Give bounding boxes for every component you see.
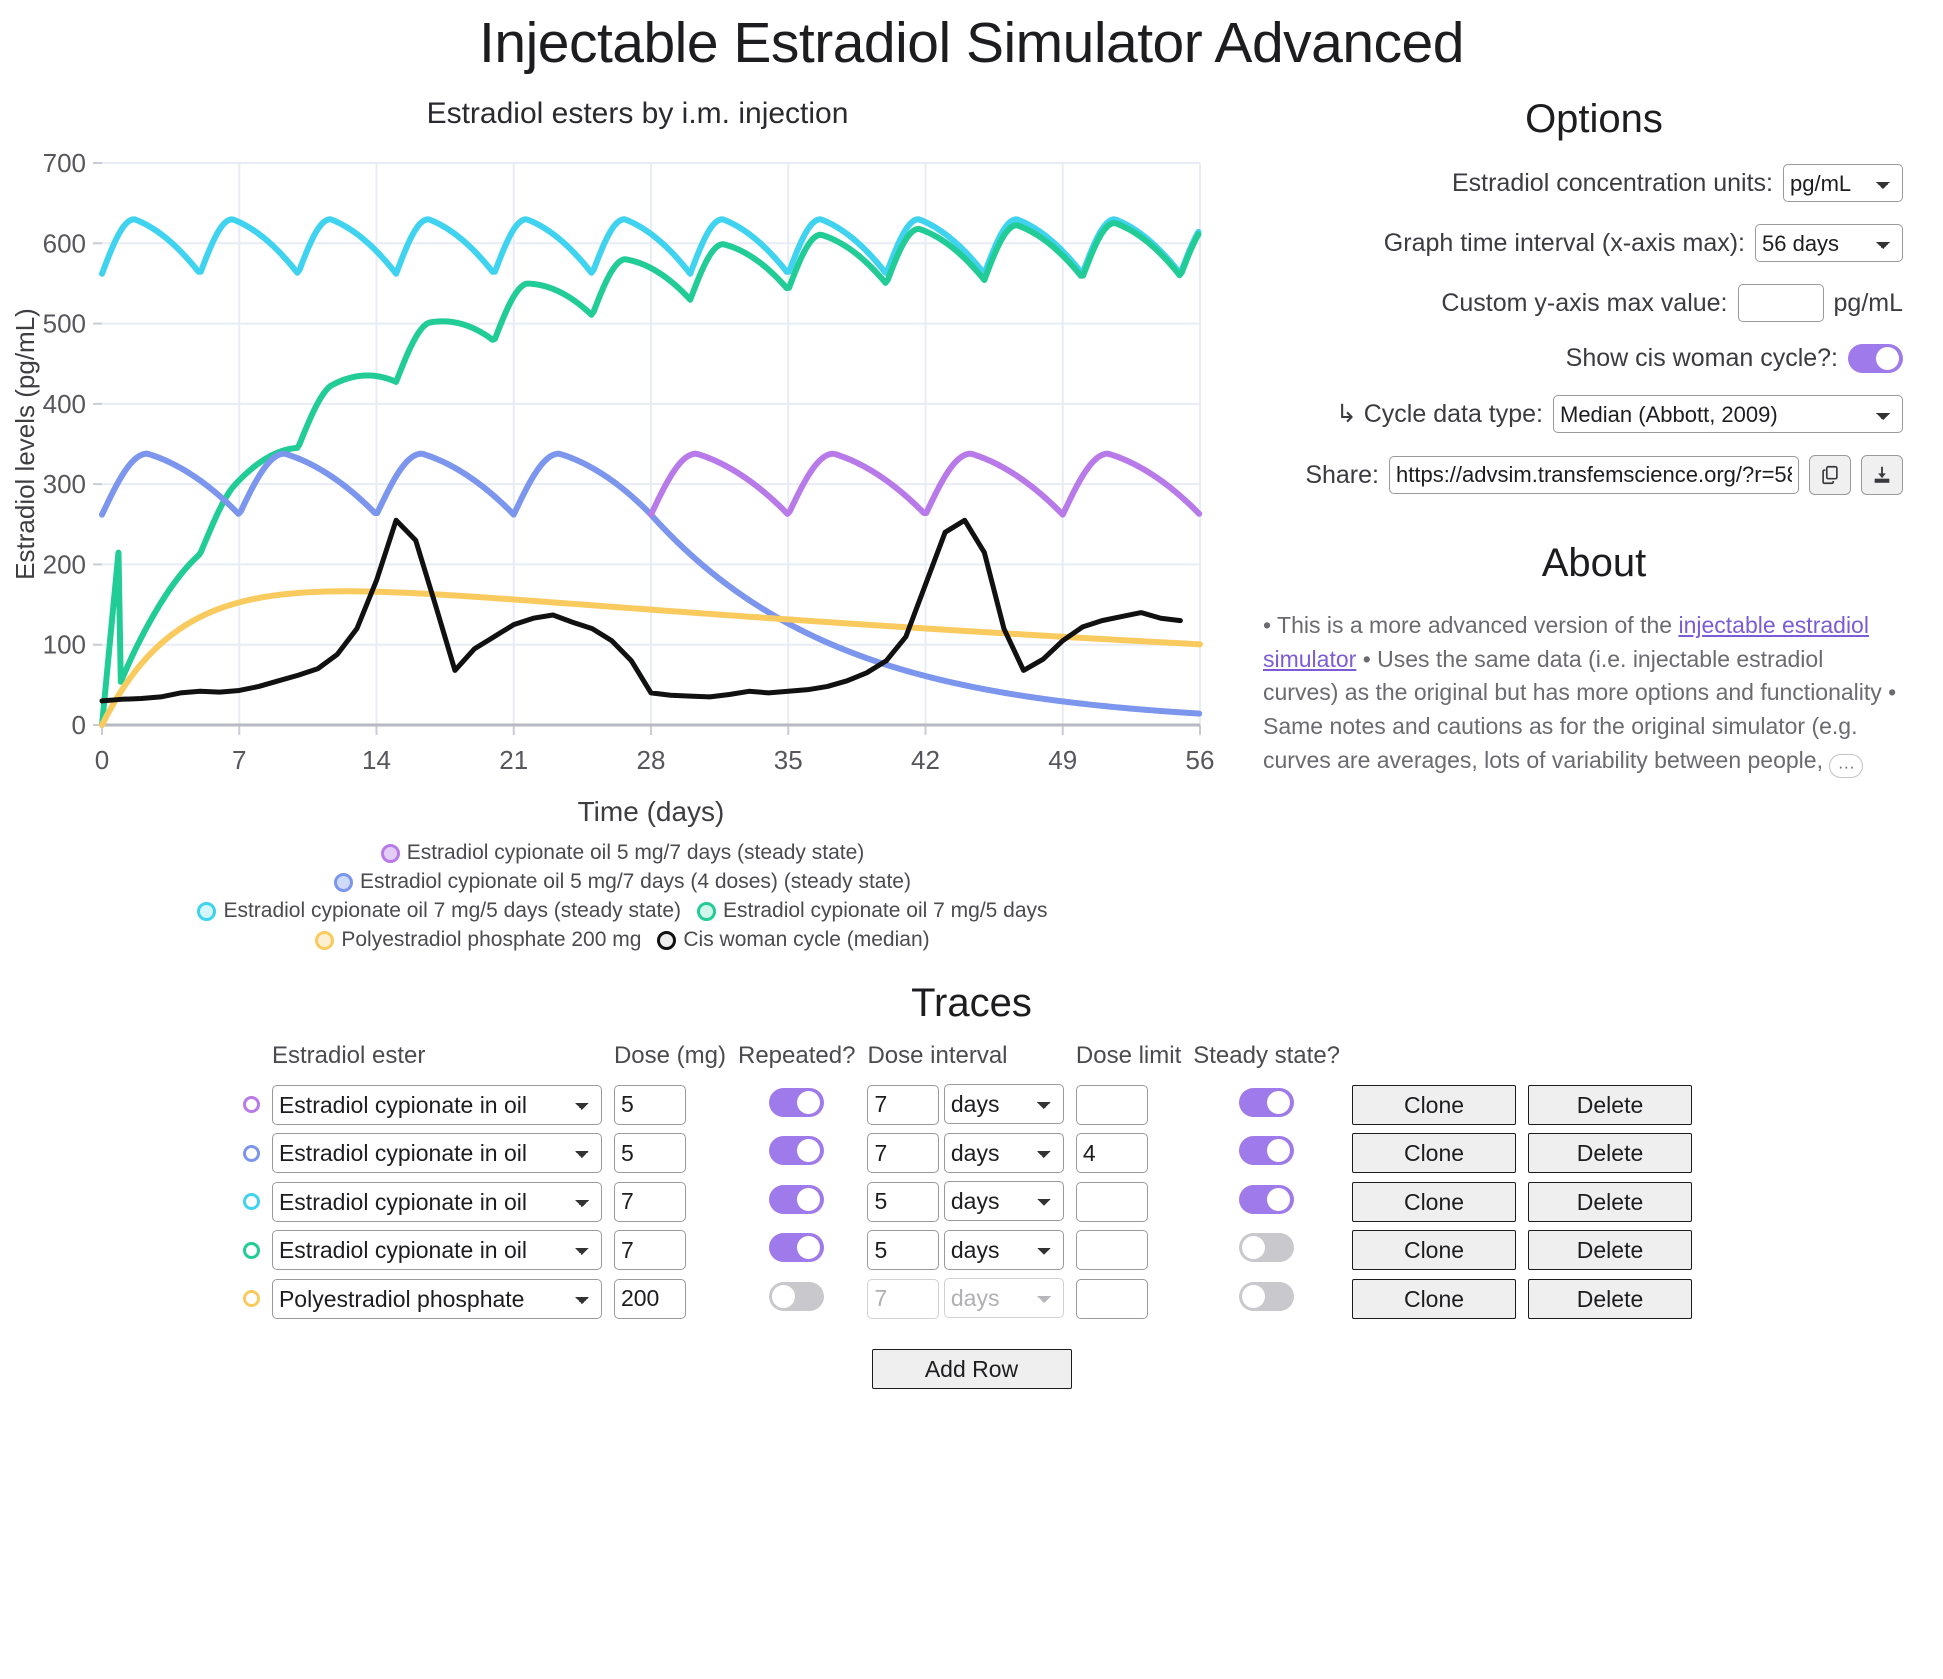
legend-item-label: Estradiol cypionate oil 5 mg/7 days (4 d… [360,870,911,894]
svg-text:300: 300 [43,469,86,499]
page-title: Injectable Estradiol Simulator Advanced [0,8,1943,79]
delete-cell: Delete [1526,1226,1702,1275]
steady-state-toggle-3[interactable] [1239,1233,1294,1262]
dose-input-1[interactable] [614,1133,686,1173]
th-actions-2 [1526,1042,1702,1080]
th-dose-limit: Dose limit [1074,1042,1191,1080]
share-url-input[interactable] [1389,456,1799,494]
download-icon[interactable] [1861,455,1903,495]
dose-limit-cell [1074,1274,1191,1323]
delete-cell: Delete [1526,1080,1702,1129]
repeated-toggle-4[interactable] [769,1282,824,1311]
chart-column: Estradiol esters by i.m. injection 01002… [0,79,1245,957]
svg-text:700: 700 [43,148,86,178]
trace-color-cell [241,1080,270,1129]
steady-state-cell [1191,1080,1350,1129]
options-column: Options Estradiol concentration units: p… [1245,79,1943,801]
svg-text:400: 400 [43,389,86,419]
legend-row: Estradiol cypionate oil 7 mg/5 days (ste… [30,899,1215,923]
legend-color-swatch [334,873,353,892]
th-repeated: Repeated? [736,1042,865,1080]
clone-cell: Clone [1350,1129,1526,1178]
repeated-toggle-1[interactable] [769,1136,824,1165]
dose-limit-input-0[interactable] [1076,1085,1148,1125]
ester-cell: Estradiol cypionate in oil [270,1226,612,1275]
share-label: Share: [1305,461,1379,490]
svg-text:42: 42 [911,745,940,775]
legend-row: Estradiol cypionate oil 5 mg/7 days (ste… [30,841,1215,865]
legend-item-label: Estradiol cypionate oil 7 mg/5 days (ste… [223,899,681,923]
expand-about-button[interactable]: ··· [1829,754,1863,778]
svg-text:35: 35 [774,745,803,775]
svg-text:Estradiol levels (pg/mL): Estradiol levels (pg/mL) [10,308,40,580]
legend-row: Polyestradiol phosphate 200 mg Cis woman… [30,928,1215,952]
legend-row: Estradiol cypionate oil 5 mg/7 days (4 d… [30,870,1215,894]
interval-cell: days [865,1177,1073,1226]
svg-text:49: 49 [1048,745,1077,775]
clone-button-1[interactable]: Clone [1352,1133,1516,1173]
trace-color-cell [241,1226,270,1275]
steady-state-cell [1191,1177,1350,1226]
legend-color-swatch [197,902,216,921]
repeated-toggle-0[interactable] [769,1088,824,1117]
legend-item-label: Polyestradiol phosphate 200 mg [341,928,641,952]
custom-ymax-row: Custom y-axis max value: pg/mL [1245,284,1943,322]
legend-item-label: Cis woman cycle (median) [683,928,929,952]
legend-item[interactable]: Polyestradiol phosphate 200 mg [315,928,641,952]
steady-state-toggle-1[interactable] [1239,1136,1294,1165]
repeated-toggle-2[interactable] [769,1185,824,1214]
clone-cell: Clone [1350,1226,1526,1275]
legend-item[interactable]: Estradiol cypionate oil 5 mg/7 days (ste… [381,841,865,865]
cycle-type-label: ↳ Cycle data type: [1336,399,1543,429]
traces-table: Estradiol ester Dose (mg) Repeated? Dose… [241,1042,1702,1323]
interval-unit-select-1[interactable]: days [944,1133,1064,1173]
dose-limit-input-3[interactable] [1076,1230,1148,1270]
trace-color-cell [241,1177,270,1226]
svg-text:56: 56 [1186,745,1215,775]
interval-input-2[interactable] [867,1182,939,1222]
table-row: Estradiol cypionate in oil daysCloneDele… [241,1080,1702,1129]
ester-cell: Estradiol cypionate in oil [270,1129,612,1178]
trace-color-swatch [243,1193,260,1210]
about-part-2: • Uses the same data (i.e. injectable es… [1263,646,1896,773]
legend-item[interactable]: Estradiol cypionate oil 5 mg/7 days (4 d… [334,870,911,894]
interval-cell: days [865,1080,1073,1129]
clone-button-2[interactable]: Clone [1352,1182,1516,1222]
table-row: Estradiol cypionate in oil daysCloneDele… [241,1226,1702,1275]
svg-text:28: 28 [637,745,666,775]
main-columns: Estradiol esters by i.m. injection 01002… [0,79,1943,957]
ester-select-4[interactable]: Polyestradiol phosphate [272,1279,602,1319]
legend-color-swatch [697,902,716,921]
add-row-button[interactable]: Add Row [872,1349,1072,1389]
ester-cell: Estradiol cypionate in oil [270,1177,612,1226]
interval-unit-select-3[interactable]: days [944,1230,1064,1270]
dose-limit-input-1[interactable] [1076,1133,1148,1173]
delete-button-1[interactable]: Delete [1528,1133,1692,1173]
dose-limit-cell [1074,1129,1191,1178]
dose-limit-cell [1074,1177,1191,1226]
about-part-1: • This is a more advanced version of the [1263,612,1678,638]
th-steady-state: Steady state? [1191,1042,1350,1080]
dose-cell [612,1129,736,1178]
dose-limit-cell [1074,1080,1191,1129]
about-heading: About [1245,541,1943,586]
svg-text:14: 14 [362,745,391,775]
repeated-cell [736,1274,865,1323]
steady-state-cell [1191,1274,1350,1323]
app-root: Injectable Estradiol Simulator Advanced … [0,8,1943,1679]
delete-button-4[interactable]: Delete [1528,1279,1692,1319]
options-heading: Options [1245,97,1943,142]
clone-cell: Clone [1350,1177,1526,1226]
traces-heading: Traces [0,981,1943,1026]
delete-button-2[interactable]: Delete [1528,1182,1692,1222]
svg-text:7: 7 [232,745,246,775]
delete-button-3[interactable]: Delete [1528,1230,1692,1270]
cycle-type-select[interactable]: Median (Abbott, 2009) [1553,395,1903,433]
steady-state-cell [1191,1129,1350,1178]
chart-svg: 01002003004005006007000714212835424956Ti… [0,135,1245,835]
ester-select-3[interactable]: Estradiol cypionate in oil [272,1230,602,1270]
clone-cell: Clone [1350,1080,1526,1129]
cycle-type-row: ↳ Cycle data type: Median (Abbott, 2009) [1245,395,1943,433]
svg-text:500: 500 [43,309,86,339]
time-interval-label: Graph time interval (x-axis max): [1384,229,1745,258]
dose-limit-cell [1074,1226,1191,1275]
dose-input-3[interactable] [614,1230,686,1270]
repeated-toggle-3[interactable] [769,1233,824,1262]
steady-state-toggle-0[interactable] [1239,1088,1294,1117]
table-row: Estradiol cypionate in oil daysCloneDele… [241,1129,1702,1178]
svg-text:21: 21 [499,745,528,775]
delete-button-0[interactable]: Delete [1528,1085,1692,1125]
svg-text:600: 600 [43,229,86,259]
show-cycle-row: Show cis woman cycle?: [1245,344,1943,373]
dose-input-2[interactable] [614,1182,686,1222]
trace-color-cell [241,1274,270,1323]
trace-color-swatch [243,1096,260,1113]
interval-unit-select-0[interactable]: days [944,1084,1064,1124]
units-select[interactable]: pg/mL [1783,164,1903,202]
clone-button-0[interactable]: Clone [1352,1085,1516,1125]
units-row: Estradiol concentration units: pg/mL [1245,164,1943,202]
svg-text:100: 100 [43,630,86,660]
repeated-cell [736,1080,865,1129]
table-row: Estradiol cypionate in oil daysCloneDele… [241,1177,1702,1226]
th-estradiol-ester: Estradiol ester [270,1042,612,1080]
svg-text:0: 0 [95,745,109,775]
th-dose-interval: Dose interval [865,1042,1073,1080]
about-text: • This is a more advanced version of the… [1245,609,1943,778]
show-cycle-toggle[interactable] [1848,344,1903,373]
time-interval-row: Graph time interval (x-axis max): 56 day… [1245,224,1943,262]
units-label: Estradiol concentration units: [1452,169,1773,198]
interval-input-1[interactable] [867,1133,939,1173]
legend-color-swatch [381,844,400,863]
legend-item[interactable]: Estradiol cypionate oil 7 mg/5 days (ste… [197,899,681,923]
table-row: Polyestradiol phosphate daysCloneDelete [241,1274,1702,1323]
show-cycle-label: Show cis woman cycle?: [1566,344,1838,373]
interval-unit-select-2[interactable]: days [944,1181,1064,1221]
dose-cell [612,1080,736,1129]
dose-input-0[interactable] [614,1085,686,1125]
svg-text:0: 0 [72,710,86,740]
dose-cell [612,1274,736,1323]
trace-color-swatch [243,1290,260,1307]
ester-select-0[interactable]: Estradiol cypionate in oil [272,1085,602,1125]
trace-color-swatch [243,1242,260,1259]
legend-color-swatch [657,931,676,950]
repeated-cell [736,1226,865,1275]
legend-color-swatch [315,931,334,950]
interval-cell: days [865,1274,1073,1323]
trace-color-cell [241,1129,270,1178]
interval-input-4[interactable] [867,1279,939,1319]
legend-item-label: Estradiol cypionate oil 7 mg/5 days [723,899,1048,923]
time-interval-select[interactable]: 56 days [1755,224,1903,262]
dose-cell [612,1177,736,1226]
custom-ymax-label: Custom y-axis max value: [1441,289,1727,318]
interval-unit-select-4[interactable]: days [944,1278,1064,1318]
interval-cell: days [865,1129,1073,1178]
clone-button-3[interactable]: Clone [1352,1230,1516,1270]
interval-input-0[interactable] [867,1085,939,1125]
delete-cell: Delete [1526,1129,1702,1178]
dose-limit-input-2[interactable] [1076,1182,1148,1222]
repeated-cell [736,1177,865,1226]
clone-button-4[interactable]: Clone [1352,1279,1516,1319]
chart-legend: Estradiol cypionate oil 5 mg/7 days (ste… [0,841,1245,952]
share-row: Share: [1245,455,1943,495]
estradiol-chart[interactable]: 01002003004005006007000714212835424956Ti… [0,135,1245,835]
custom-ymax-units: pg/mL [1834,289,1903,318]
chart-title: Estradiol esters by i.m. injection [0,97,1245,131]
ester-select-2[interactable]: Estradiol cypionate in oil [272,1182,602,1222]
ester-cell: Estradiol cypionate in oil [270,1080,612,1129]
svg-text:200: 200 [43,550,86,580]
legend-item[interactable]: Cis woman cycle (median) [657,928,929,952]
dose-cell [612,1226,736,1275]
traces-header-row: Estradiol ester Dose (mg) Repeated? Dose… [241,1042,1702,1080]
legend-item-label: Estradiol cypionate oil 5 mg/7 days (ste… [407,841,865,865]
delete-cell: Delete [1526,1177,1702,1226]
dose-limit-input-4[interactable] [1076,1279,1148,1319]
th-actions [1350,1042,1526,1080]
interval-input-3[interactable] [867,1230,939,1270]
th-dose: Dose (mg) [612,1042,736,1080]
steady-state-toggle-2[interactable] [1239,1185,1294,1214]
repeated-cell [736,1129,865,1178]
interval-cell: days [865,1226,1073,1275]
legend-item[interactable]: Estradiol cypionate oil 7 mg/5 days [697,899,1048,923]
custom-ymax-input[interactable] [1738,284,1824,322]
steady-state-toggle-4[interactable] [1239,1282,1294,1311]
ester-cell: Polyestradiol phosphate [270,1274,612,1323]
delete-cell: Delete [1526,1274,1702,1323]
dose-input-4[interactable] [614,1279,686,1319]
steady-state-cell [1191,1226,1350,1275]
trace-color-swatch [243,1145,260,1162]
copy-icon[interactable] [1809,455,1851,495]
th-color [241,1042,270,1080]
clone-cell: Clone [1350,1274,1526,1323]
svg-text:Time (days): Time (days) [578,796,725,827]
ester-select-1[interactable]: Estradiol cypionate in oil [272,1133,602,1173]
